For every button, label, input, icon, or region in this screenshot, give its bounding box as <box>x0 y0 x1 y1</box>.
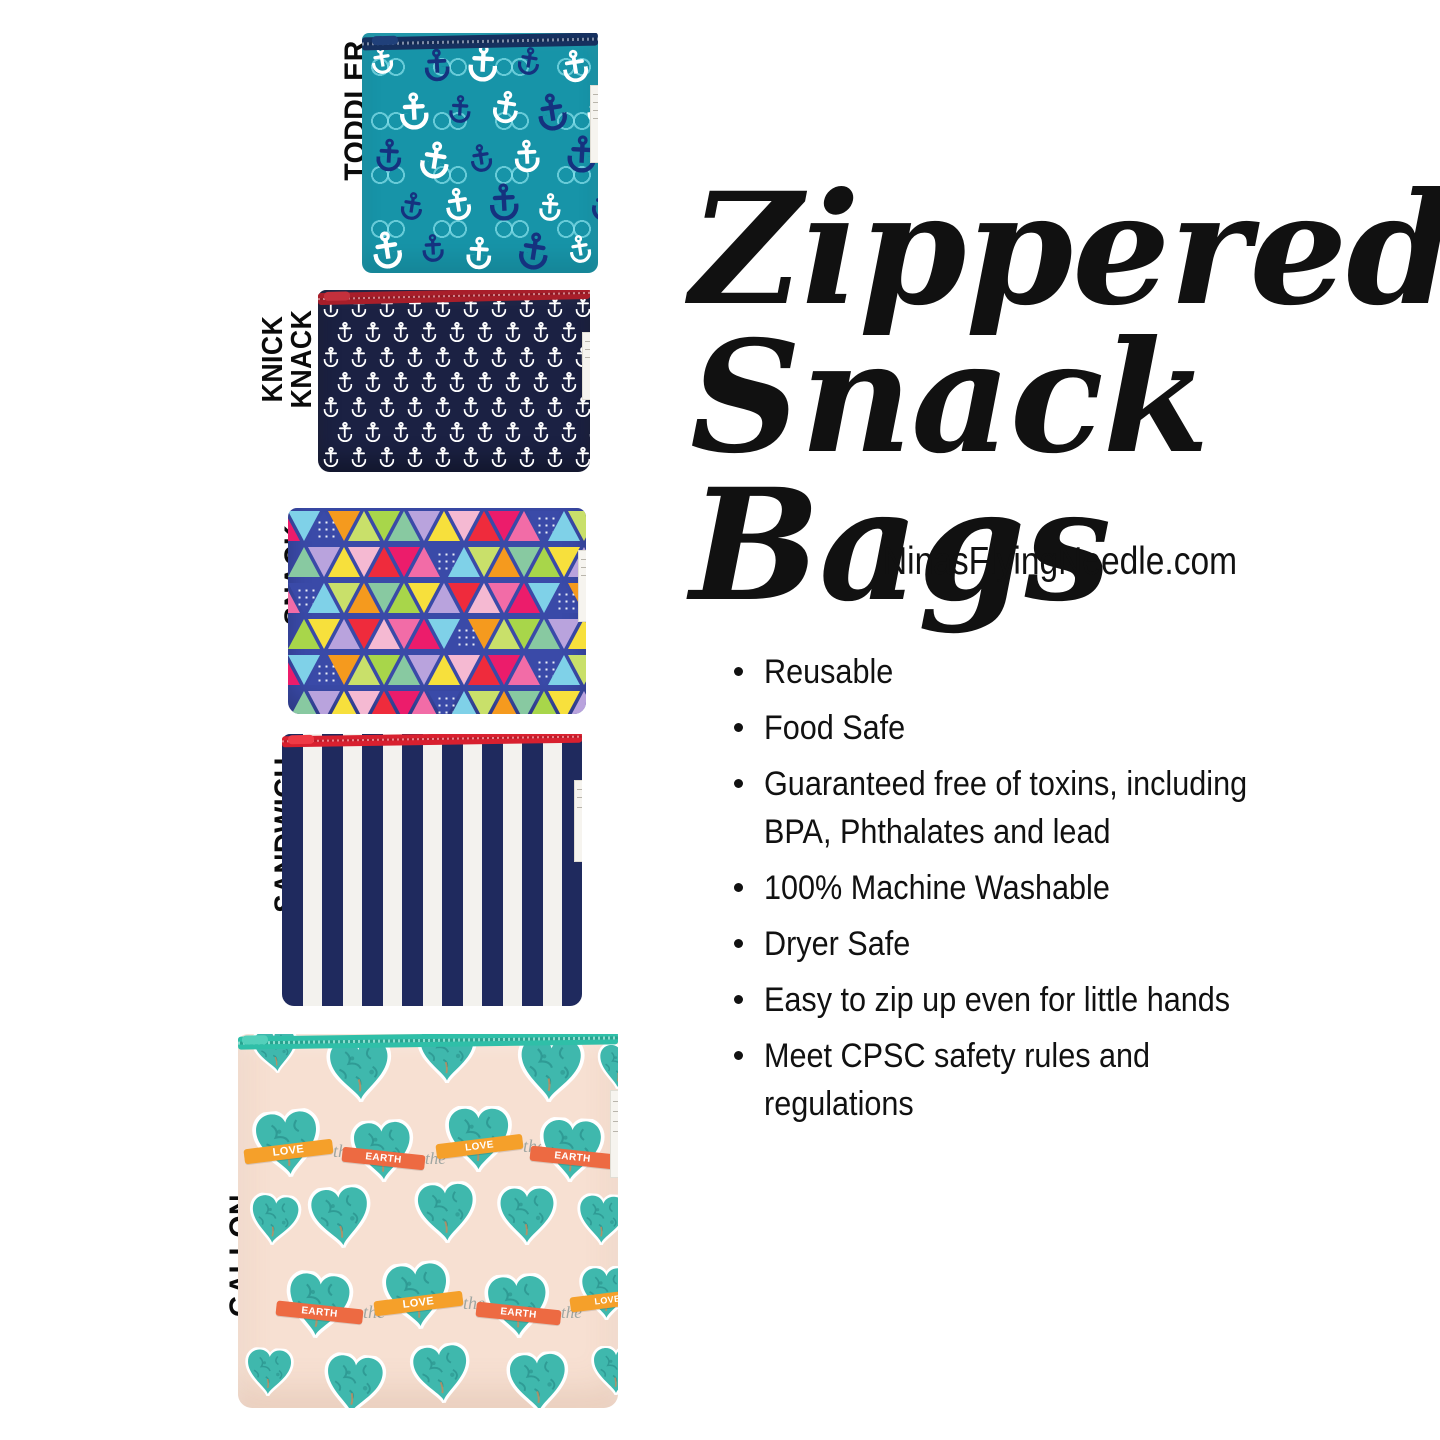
care-tag <box>574 780 582 862</box>
anchor-motif <box>505 372 521 392</box>
anchor-motif <box>421 233 445 262</box>
anchor-motif <box>323 347 339 367</box>
anchor-motif <box>561 372 577 392</box>
anchor-motif <box>379 447 395 467</box>
bullet-dot <box>734 779 743 788</box>
anchor-motif <box>477 372 493 392</box>
feature-text: Meet CPSC safety rules and regulations <box>764 1032 1304 1128</box>
anchor-motif <box>323 447 339 467</box>
bullet-dot <box>734 883 743 892</box>
title-line-1: Zippered <box>690 176 1420 324</box>
anchor-motif <box>365 372 381 392</box>
feature-item: Easy to zip up even for little hands <box>724 976 1364 1024</box>
bullet-dot <box>734 1051 743 1060</box>
anchor-motif <box>575 447 590 467</box>
anchor-motif <box>575 297 590 317</box>
product-image-snack <box>288 508 586 714</box>
anchor-motif <box>417 139 453 181</box>
product-image-sandwich <box>282 734 582 1006</box>
website-url[interactable]: NinasFlyingNeedle.com <box>802 540 1318 584</box>
heart-motif <box>245 1191 303 1247</box>
anchor-motif <box>435 397 451 417</box>
heart-motif <box>594 1042 618 1092</box>
product-image-gallon: LOVEtheEARTHtheLOVEtheEARTHtheEARTHtheLO… <box>238 1034 618 1408</box>
anchor-motif <box>559 48 591 84</box>
anchor-motif <box>337 372 353 392</box>
heart-motif <box>305 1183 376 1251</box>
anchor-motif <box>519 397 535 417</box>
anchor-motif <box>351 397 367 417</box>
anchor-motif <box>351 447 367 467</box>
anchor-motif <box>533 372 549 392</box>
anchor-motif <box>421 422 437 442</box>
stripe-pattern <box>282 734 582 1006</box>
anchor-motif <box>477 422 493 442</box>
bullet-dot <box>734 995 743 1004</box>
anchor-motif <box>398 190 425 221</box>
anchor-motif <box>513 139 542 173</box>
feature-item: Guaranteed free of toxins, including BPA… <box>724 760 1364 856</box>
anchor-motif <box>547 297 563 317</box>
anchor-motif <box>407 397 423 417</box>
feature-item: 100% Machine Washable <box>724 864 1364 912</box>
anchor-motif <box>467 142 494 173</box>
feature-item: Food Safe <box>724 704 1364 752</box>
anchor-motif <box>449 422 465 442</box>
care-tag <box>578 550 586 622</box>
anchor-motif <box>365 322 381 342</box>
anchor-motif <box>465 236 494 270</box>
care-tag <box>610 1090 618 1178</box>
feature-item: Meet CPSC safety rules and regulations <box>724 1032 1364 1128</box>
bullet-dot <box>734 939 743 948</box>
anchor-motif <box>379 347 395 367</box>
anchor-motif <box>337 422 353 442</box>
anchor-motif <box>351 347 367 367</box>
triangle-motif <box>568 619 586 649</box>
anchor-motif <box>421 322 437 342</box>
anchor-motif <box>337 322 353 342</box>
anchor-motif <box>393 372 409 392</box>
feature-item: Reusable <box>724 648 1364 696</box>
anchor-motif <box>407 447 423 467</box>
anchor-motif <box>365 422 381 442</box>
heart-motif <box>412 1180 479 1244</box>
size-label-knick-knack: KNICK KNACK <box>259 267 317 451</box>
feature-item: Dryer Safe <box>724 920 1364 968</box>
anchor-motif <box>561 322 577 342</box>
heart-motif <box>504 1350 571 1408</box>
heart-motif <box>319 1351 389 1408</box>
heart-motif <box>243 1347 295 1398</box>
bullet-dot <box>734 723 743 732</box>
anchor-motif <box>449 372 465 392</box>
anchor-motif <box>547 347 563 367</box>
triangle-motif <box>568 691 586 714</box>
anchor-motif <box>463 347 479 367</box>
poster-canvas: TODDLER KNICK KNACK SNACK SANDWICH <box>0 0 1440 1440</box>
anchor-motif <box>393 422 409 442</box>
heart-motif <box>407 1341 475 1406</box>
anchor-motif <box>375 138 404 172</box>
anchor-motif <box>505 322 521 342</box>
product-image-knick-knack <box>318 290 590 472</box>
care-tag <box>590 85 598 163</box>
anchor-motif <box>407 347 423 367</box>
anchor-motif <box>323 397 339 417</box>
anchor-motif <box>533 322 549 342</box>
feature-text: 100% Machine Washable <box>764 864 1304 912</box>
heart-motif <box>575 1193 618 1247</box>
anchor-motif <box>393 322 409 342</box>
anchor-motif <box>435 347 451 367</box>
anchor-motif <box>519 347 535 367</box>
anchor-motif <box>423 48 452 82</box>
triangle-motif <box>568 511 586 541</box>
triangle-motif <box>568 655 586 685</box>
anchor-motif <box>463 397 479 417</box>
heart-motif <box>496 1186 558 1245</box>
anchor-motif <box>448 94 472 123</box>
anchor-motif <box>534 91 570 133</box>
anchor-motif <box>561 422 577 442</box>
product-image-toddler <box>362 33 598 273</box>
anchor-motif <box>519 447 535 467</box>
anchor-motif <box>491 347 507 367</box>
anchor-motif <box>369 229 405 271</box>
anchor-motif <box>491 397 507 417</box>
heart-motif <box>590 1346 618 1395</box>
anchor-motif <box>449 322 465 342</box>
anchor-motif <box>491 447 507 467</box>
feature-list: ReusableFood SafeGuaranteed free of toxi… <box>724 648 1364 1136</box>
anchor-motif <box>442 186 474 222</box>
anchor-motif <box>515 45 542 76</box>
anchor-motif <box>589 422 590 442</box>
anchor-motif <box>490 89 522 125</box>
anchor-motif <box>467 44 500 83</box>
feature-text: Food Safe <box>764 704 1304 752</box>
anchor-motif <box>516 230 552 272</box>
feature-text: Guaranteed free of toxins, including BPA… <box>764 760 1304 856</box>
feature-text: Dryer Safe <box>764 920 1304 968</box>
anchor-motif <box>463 447 479 467</box>
bullet-dot <box>734 667 743 676</box>
anchor-motif <box>379 397 395 417</box>
anchor-motif <box>398 92 431 131</box>
anchor-motif <box>538 192 562 221</box>
anchor-motif <box>547 447 563 467</box>
feature-text: Reusable <box>764 648 1304 696</box>
anchor-motif <box>488 183 521 222</box>
feature-text: Easy to zip up even for little hands <box>764 976 1304 1024</box>
anchor-motif <box>505 422 521 442</box>
anchor-motif <box>435 447 451 467</box>
anchor-motif <box>566 233 593 264</box>
anchor-motif <box>547 397 563 417</box>
care-tag <box>582 332 590 400</box>
anchor-motif <box>533 422 549 442</box>
anchor-motif <box>421 372 437 392</box>
anchor-motif <box>477 322 493 342</box>
